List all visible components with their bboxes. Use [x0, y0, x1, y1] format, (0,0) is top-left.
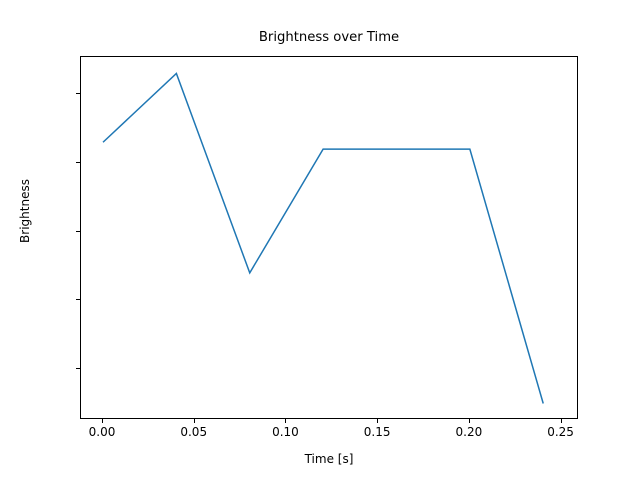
x-tick-label: 0.20 — [456, 426, 483, 438]
x-tick-label: 0.25 — [547, 426, 574, 438]
series-brightness-line — [103, 74, 543, 404]
data-line-series — [81, 57, 579, 420]
x-axis-label: Time [s] — [80, 452, 578, 466]
x-tick-label: 0.15 — [364, 426, 391, 438]
x-tick-label: 0.00 — [89, 426, 116, 438]
x-tick-label: 0.05 — [180, 426, 207, 438]
x-tick-label: 0.10 — [272, 426, 299, 438]
chart-title: Brightness over Time — [80, 30, 578, 45]
plot-area — [80, 56, 578, 419]
y-axis-label: Brightness — [18, 131, 32, 291]
figure-canvas: Brightness over Time Brightness Time [s]… — [0, 0, 640, 480]
